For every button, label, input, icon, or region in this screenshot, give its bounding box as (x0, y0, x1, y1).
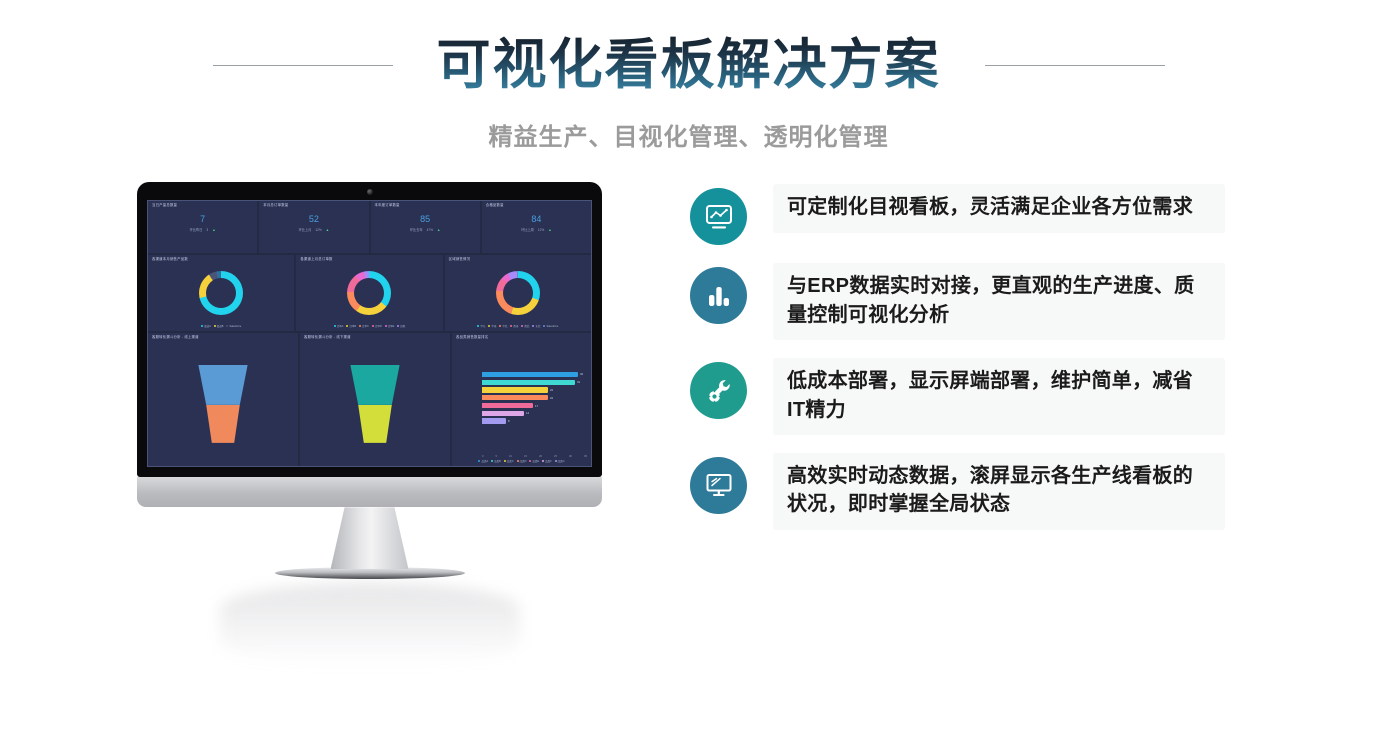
feature-item[interactable]: 低成本部署，显示屏端部署，维护简单，减省IT精力 (690, 358, 1225, 435)
funnel-stage (195, 405, 251, 443)
donut-chart (148, 262, 294, 324)
page-subtitle: 精益生产、目视化管理、透明化管理 (0, 117, 1377, 152)
kpi-compare-label: 环比上月 (299, 227, 312, 232)
funnel-stage (347, 405, 403, 443)
feature-item[interactable]: 与ERP数据实时对接，更直观的生产进度、质量控制可视化分析 (690, 263, 1225, 340)
donut-panel[interactable]: 区域销售情况 华东华南华北西南西北东北Salesforce (445, 255, 591, 331)
legend-label: 其他 (400, 324, 405, 328)
bar-value-label: 17 (535, 404, 538, 408)
legend-swatch (372, 325, 374, 327)
legend-item[interactable]: 其他 (397, 324, 405, 328)
page-title: 可视化看板解决方案 (437, 36, 941, 95)
kpi-title: 本月总订单数量 (259, 201, 368, 208)
legend-item[interactable]: 渠道B (214, 324, 224, 328)
kpi-card[interactable]: 本月总订单数量 52 环比上月 12% ▲ (259, 201, 368, 253)
bar-row[interactable]: 8 (482, 418, 587, 423)
legend-item[interactable]: 西南 (510, 324, 518, 328)
kpi-card[interactable]: 当日产量总数量 7 环比昨日 3 ▲ (148, 201, 257, 253)
funnel-panel[interactable]: 客服转化漏斗分析 - 线上渠道 (148, 333, 298, 466)
axis-tick: 25 (554, 455, 557, 458)
bar (482, 411, 524, 416)
legend-swatch (385, 325, 387, 327)
feature-text: 与ERP数据实时对接，更直观的生产进度、质量控制可视化分析 (773, 263, 1225, 340)
content-stage: 当日产量总数量 7 环比昨日 3 ▲ 本月总订单数量 52 环比上月 (0, 174, 1377, 694)
legend-label: 订单A (337, 324, 344, 328)
kpi-delta: 12% (315, 228, 321, 232)
legend-label: Salesforce (229, 325, 241, 328)
donut-chart (296, 262, 442, 324)
legend-label: 华东 (480, 324, 485, 328)
wrench-gear-icon (690, 362, 747, 419)
legend-swatch (504, 460, 506, 462)
legend-item[interactable]: 华南 (488, 324, 496, 328)
trend-up-icon: ▲ (548, 228, 551, 232)
legend-label: 渠道B (217, 324, 224, 328)
legend-swatch (478, 460, 480, 462)
funnel-stage (347, 365, 403, 405)
legend-label: 订单E (388, 324, 395, 328)
desktop-monitor-icon (690, 457, 747, 514)
donut-legend: 订单A订单B订单C订单D订单E其他 (334, 324, 406, 331)
legend-label: 渠道A (204, 324, 211, 328)
feature-text: 低成本部署，显示屏端部署，维护简单，减省IT精力 (773, 358, 1225, 435)
bar (482, 380, 575, 385)
legend-label: 东北 (535, 324, 540, 328)
legend-swatch (521, 325, 523, 327)
legend-swatch (397, 325, 399, 327)
legend-label: 品类F (545, 459, 552, 463)
kpi-footer: 环比去年 47% ▲ (371, 227, 480, 232)
kpi-title: 合格品数量 (482, 201, 591, 208)
kpi-delta: 3 (206, 228, 208, 232)
bar (482, 372, 578, 377)
legend-item[interactable]: 品类D (517, 459, 527, 463)
funnel-panel[interactable]: 客服转化漏斗分析 - 线下渠道 (300, 333, 450, 466)
legend-item[interactable]: 订单B (346, 324, 356, 328)
legend-label: 西南 (513, 324, 518, 328)
funnel-chart (347, 361, 403, 439)
bar-row[interactable]: 17 (482, 403, 587, 408)
bar-row[interactable]: 22 (482, 395, 587, 400)
legend-item[interactable]: 品类A (478, 459, 488, 463)
legend-label: 品类D (520, 459, 527, 463)
kpi-delta: 47% (427, 228, 433, 232)
bar-chart-panel[interactable]: 各品类销售数量排名 3231222217148 05101520253035 品… (452, 333, 591, 466)
trend-up-icon: ▲ (437, 228, 440, 232)
donut-ring (199, 271, 243, 315)
donut-panel[interactable]: 各渠道上月总订单数 订单A订单B订单C订单D订单E其他 (296, 255, 442, 331)
feature-text: 高效实时动态数据，滚屏显示各生产线看板的状况，即时掌握全局状态 (773, 453, 1225, 530)
legend-label: 品类C (507, 459, 514, 463)
kpi-card[interactable]: 本年度订单数量 85 环比去年 47% ▲ (371, 201, 480, 253)
legend-label: 华北 (502, 324, 507, 328)
bar-chart-legend: 品类A品类B品类C品类D品类E品类F品类G (456, 459, 587, 466)
legend-label: 订单D (375, 324, 382, 328)
axis-tick: 15 (524, 455, 527, 458)
funnel-title: 客服转化漏斗分析 - 线下渠道 (300, 333, 351, 340)
legend-item[interactable]: Salesforce (226, 324, 241, 328)
legend-item[interactable]: 品类B (491, 459, 501, 463)
kpi-delta: 12% (538, 228, 544, 232)
axis-tick: 5 (496, 455, 497, 458)
bar-value-label: 22 (550, 388, 553, 392)
feature-list: 可定制化目视看板，灵活满足企业各方位需求 与ERP数据实时对接，更直观的生产进度… (690, 184, 1225, 529)
trend-up-icon: ▲ (212, 228, 215, 232)
webcam-icon (367, 189, 373, 195)
legend-item[interactable]: 订单C (359, 324, 369, 328)
kpi-card[interactable]: 合格品数量 84 环比上周 12% ▲ (482, 201, 591, 253)
bar-row[interactable]: 32 (482, 372, 587, 377)
legend-label: 订单C (362, 324, 369, 328)
kpi-value: 85 (371, 215, 480, 224)
legend-item[interactable]: 东北 (532, 324, 540, 328)
bottom-row: 客服转化漏斗分析 - 线上渠道 客服转化漏斗分析 - 线下渠道 (148, 333, 591, 466)
bar (482, 403, 533, 408)
bar-row[interactable]: 22 (482, 387, 587, 392)
legend-item[interactable]: 华北 (499, 324, 507, 328)
legend-item[interactable]: 品类F (542, 459, 552, 463)
kpi-value: 52 (259, 215, 368, 224)
bar-chart-axis: 05101520253035 (456, 455, 587, 458)
bar (482, 395, 548, 400)
legend-swatch (359, 325, 361, 327)
bar-value-label: 32 (580, 372, 583, 376)
legend-swatch (499, 325, 501, 327)
donut-panel[interactable]: 各渠道本月销售产品数 渠道A渠道BSalesforce (148, 255, 294, 331)
donut-ring (347, 271, 391, 315)
legend-item[interactable]: 西北 (521, 324, 529, 328)
legend-label: 华南 (491, 324, 496, 328)
legend-swatch (226, 325, 228, 327)
legend-swatch (529, 460, 531, 462)
legend-label: 品类A (481, 459, 488, 463)
feature-item[interactable]: 可定制化目视看板，灵活满足企业各方位需求 (690, 184, 1225, 245)
funnel-chart (195, 361, 251, 439)
trend-up-icon: ▲ (326, 228, 329, 232)
page-header: 可视化看板解决方案 精益生产、目视化管理、透明化管理 (0, 0, 1377, 152)
legend-label: 订单B (349, 324, 356, 328)
monitor-chin (137, 477, 602, 507)
legend-item[interactable]: 品类G (555, 459, 565, 463)
legend-swatch (517, 460, 519, 462)
legend-swatch (543, 325, 545, 327)
legend-label: 西北 (524, 324, 529, 328)
legend-swatch (477, 325, 479, 327)
legend-label: Salesforce (546, 325, 558, 328)
kpi-value: 84 (482, 215, 591, 224)
title-rule-right (985, 65, 1165, 66)
axis-tick: 20 (539, 455, 542, 458)
kpi-compare-label: 环比去年 (410, 227, 423, 232)
funnel-title: 客服转化漏斗分析 - 线上渠道 (148, 333, 199, 340)
kpi-title: 本年度订单数量 (371, 201, 480, 208)
legend-item[interactable]: 订单D (372, 324, 382, 328)
axis-tick: 30 (569, 455, 572, 458)
legend-swatch (334, 325, 336, 327)
feature-item[interactable]: 高效实时动态数据，滚屏显示各生产线看板的状况，即时掌握全局状态 (690, 453, 1225, 530)
legend-item[interactable]: 品类E (529, 459, 539, 463)
donut-legend: 华东华南华北西南西北东北Salesforce (477, 324, 558, 331)
bar (482, 387, 548, 392)
donut-title: 区域销售情况 (445, 255, 591, 262)
monitor-bezel: 当日产量总数量 7 环比昨日 3 ▲ 本月总订单数量 52 环比上月 (137, 182, 602, 477)
donut-ring (496, 271, 540, 315)
legend-item[interactable]: Salesforce (543, 324, 558, 328)
monitor-reflection (220, 583, 520, 667)
donut-chart (445, 262, 591, 324)
kpi-compare-label: 环比昨日 (190, 227, 203, 232)
feature-text: 可定制化目视看板，灵活满足企业各方位需求 (773, 184, 1225, 232)
legend-swatch (488, 325, 490, 327)
legend-swatch (346, 325, 348, 327)
kpi-footer: 环比昨日 3 ▲ (148, 227, 257, 232)
axis-tick: 0 (482, 455, 483, 458)
legend-swatch (510, 325, 512, 327)
legend-swatch (214, 325, 216, 327)
bar-row[interactable]: 14 (482, 411, 587, 416)
bar-value-label: 8 (508, 419, 510, 423)
legend-item[interactable]: 订单A (334, 324, 344, 328)
legend-swatch (201, 325, 203, 327)
kpi-compare-label: 环比上周 (521, 227, 534, 232)
legend-swatch (542, 460, 544, 462)
bar-value-label: 22 (550, 396, 553, 400)
funnel-stage (195, 365, 251, 405)
legend-label: 品类E (532, 459, 539, 463)
legend-item[interactable]: 华东 (477, 324, 485, 328)
bar-row[interactable]: 31 (482, 380, 587, 385)
monitor-linechart-icon (690, 188, 747, 245)
legend-label: 品类B (494, 459, 501, 463)
kpi-title: 当日产量总数量 (148, 201, 257, 208)
title-row: 可视化看板解决方案 (0, 36, 1377, 95)
donut-title: 各渠道本月销售产品数 (148, 255, 294, 262)
legend-item[interactable]: 渠道A (201, 324, 211, 328)
donut-title: 各渠道上月总订单数 (296, 255, 442, 262)
bar (482, 418, 506, 423)
kpi-row: 当日产量总数量 7 环比昨日 3 ▲ 本月总订单数量 52 环比上月 (148, 201, 591, 253)
monitor-mockup: 当日产量总数量 7 环比昨日 3 ▲ 本月总订单数量 52 环比上月 (137, 182, 602, 667)
legend-swatch (491, 460, 493, 462)
kpi-footer: 环比上月 12% ▲ (259, 227, 368, 232)
bar-chart-icon (690, 267, 747, 324)
legend-swatch (555, 460, 557, 462)
bar-value-label: 31 (577, 380, 580, 384)
kpi-value: 7 (148, 215, 257, 224)
bar-value-label: 14 (526, 411, 529, 415)
bar-chart-title: 各品类销售数量排名 (452, 333, 587, 340)
donut-legend: 渠道A渠道BSalesforce (201, 324, 241, 331)
dashboard-screen: 当日产量总数量 7 环比昨日 3 ▲ 本月总订单数量 52 环比上月 (147, 200, 592, 467)
title-rule-left (213, 65, 393, 66)
legend-label: 品类G (558, 459, 565, 463)
legend-item[interactable]: 订单E (385, 324, 395, 328)
legend-swatch (532, 325, 534, 327)
kpi-footer: 环比上周 12% ▲ (482, 227, 591, 232)
axis-tick: 35 (584, 455, 587, 458)
bar-chart: 3231222217148 (456, 340, 587, 455)
monitor-neck (331, 507, 409, 569)
axis-tick: 10 (509, 455, 512, 458)
legend-item[interactable]: 品类C (504, 459, 514, 463)
donut-row: 各渠道本月销售产品数 渠道A渠道BSalesforce 各渠道上月总订单数 订单… (148, 255, 591, 331)
